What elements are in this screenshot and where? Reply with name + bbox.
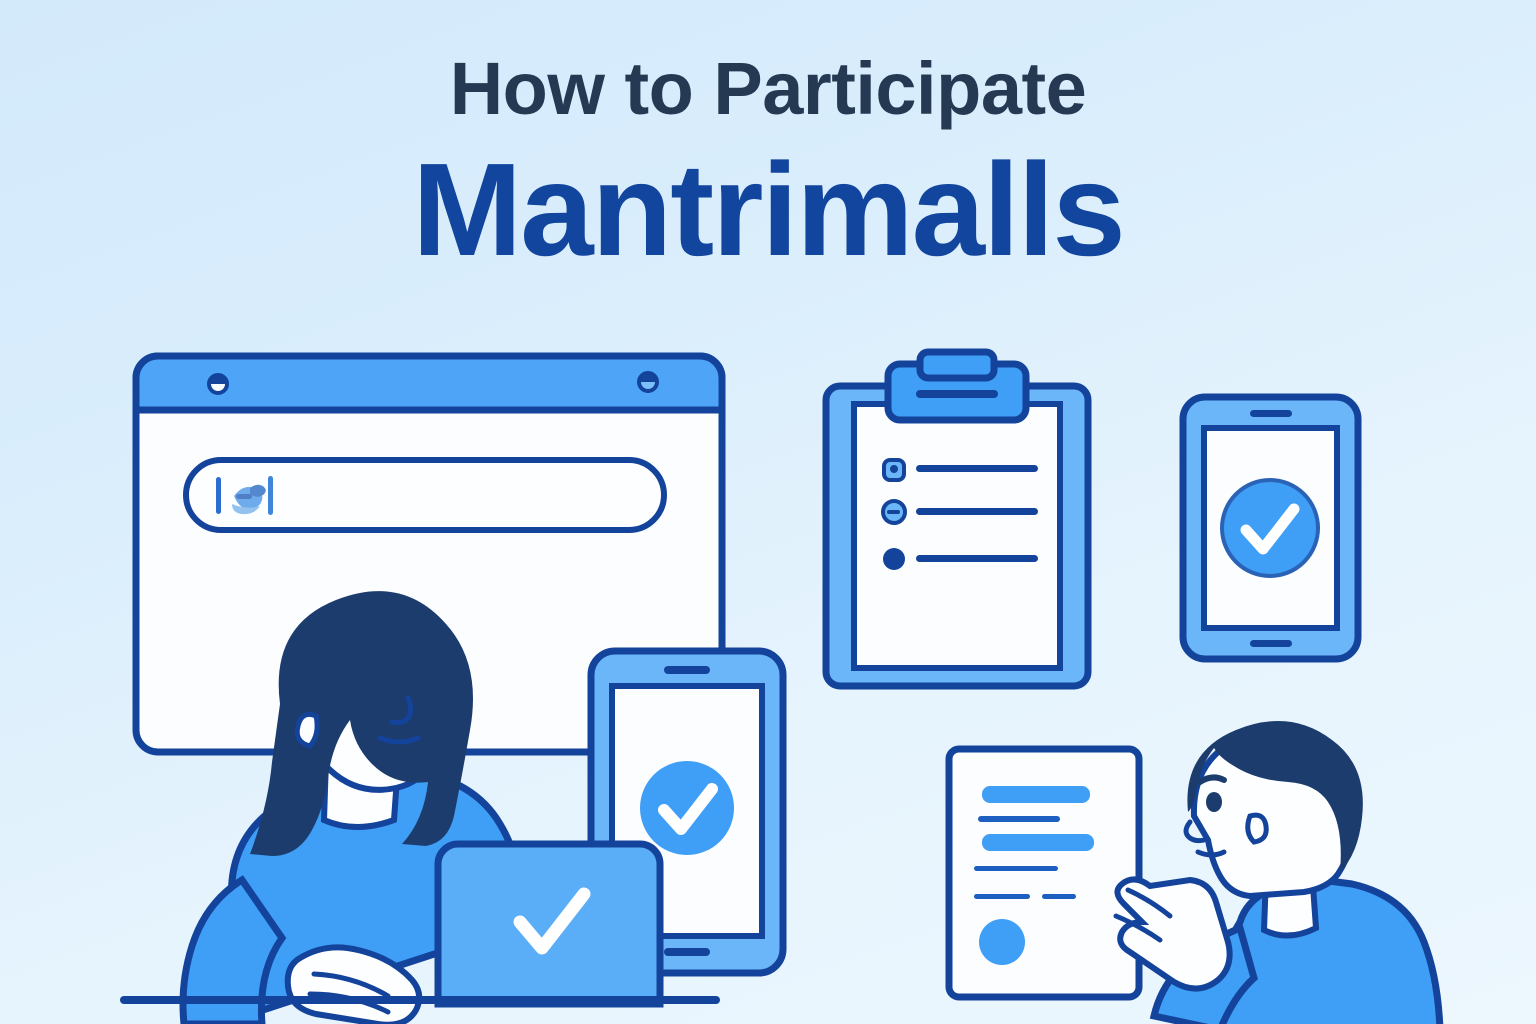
man-eye — [1206, 792, 1222, 812]
tablet-speaker — [1250, 410, 1292, 417]
document-avatar-dot — [979, 919, 1025, 965]
illustration-banner: How to Participate Mantrimalls — [0, 0, 1536, 1024]
woman-eye — [363, 675, 385, 701]
laptop-device[interactable] — [424, 838, 674, 1018]
tablet-device[interactable] — [1178, 392, 1363, 664]
page-title-top: How to Participate — [0, 52, 1536, 126]
titlebar-dot-left[interactable] — [209, 375, 227, 393]
thick-bar — [982, 786, 1090, 803]
search-input[interactable] — [186, 460, 664, 530]
tablet-home-button[interactable] — [1250, 640, 1292, 647]
thin-line — [974, 894, 1030, 899]
page-title-main: Mantrimalls — [0, 144, 1536, 276]
laptop-lid — [438, 844, 660, 1004]
person-man-holding-document — [1090, 690, 1470, 1024]
search-caret-right — [268, 476, 273, 515]
thick-bar — [982, 834, 1094, 851]
bullet-dot-marker[interactable] — [883, 548, 905, 570]
phone-speaker — [664, 666, 710, 674]
thin-line — [974, 866, 1058, 871]
thin-line — [978, 816, 1060, 822]
list-line — [916, 465, 1038, 472]
list-line — [916, 555, 1038, 562]
check-circle-icon — [1222, 480, 1318, 576]
clipboard[interactable] — [820, 352, 1100, 697]
thin-line — [1042, 894, 1076, 899]
man-hand — [1117, 879, 1229, 988]
titlebar-dot-right[interactable] — [639, 373, 657, 391]
desk-line — [120, 994, 720, 1006]
list-line — [916, 508, 1038, 515]
text-caret — [216, 477, 221, 514]
heading-block: How to Participate Mantrimalls — [0, 52, 1536, 276]
